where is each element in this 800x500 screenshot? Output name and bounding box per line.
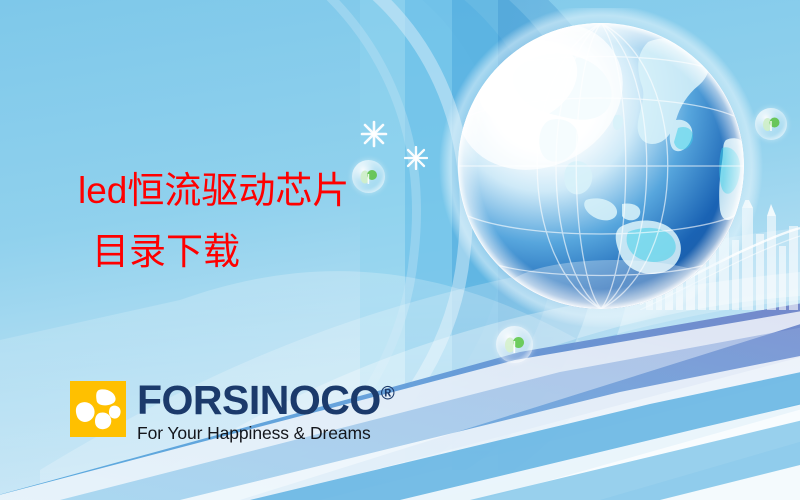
- forsinoco-flower-mark-icon: [70, 381, 126, 437]
- bubble-with-sprout: [496, 326, 533, 363]
- sparkle-star: [360, 120, 388, 148]
- company-logo: FORSINOCO® For Your Happiness & Dreams: [70, 381, 394, 444]
- registered-trademark-symbol: ®: [381, 383, 395, 404]
- wordmark-text: FORSINOCO: [137, 377, 381, 423]
- logo-wordmark: FORSINOCO®: [137, 381, 394, 420]
- headline-line-2: 目录下载: [78, 221, 418, 282]
- logo-tagline: For Your Happiness & Dreams: [137, 422, 394, 444]
- headline-line-1: led恒流驱动芯片: [78, 160, 418, 221]
- promo-banner: led恒流驱动芯片 目录下载 FORSINOCO® For Your Happi…: [0, 0, 800, 500]
- bubble-with-sprout: [755, 108, 787, 140]
- page-title: led恒流驱动芯片 目录下载: [78, 160, 418, 282]
- earth-globe: [436, 8, 766, 338]
